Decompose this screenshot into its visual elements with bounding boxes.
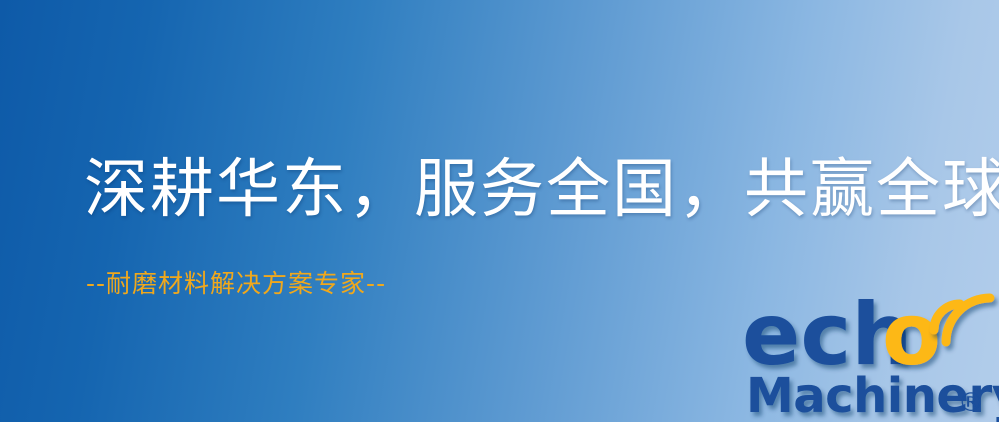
- logo-tagline-group: Machinery ®: [746, 368, 999, 422]
- signal-waves-icon: [934, 298, 990, 342]
- page-title: 深耕华东，服务全国，共赢全球: [84, 152, 999, 228]
- registered-trademark-icon: ®: [958, 388, 984, 418]
- company-logo[interactable]: ech o Machinery ®: [742, 292, 999, 422]
- page-subtitle: --耐磨材料解决方案专家--: [86, 268, 386, 300]
- hero-banner: 深耕华东，服务全国，共赢全球 --耐磨材料解决方案专家-- ech o: [0, 0, 999, 422]
